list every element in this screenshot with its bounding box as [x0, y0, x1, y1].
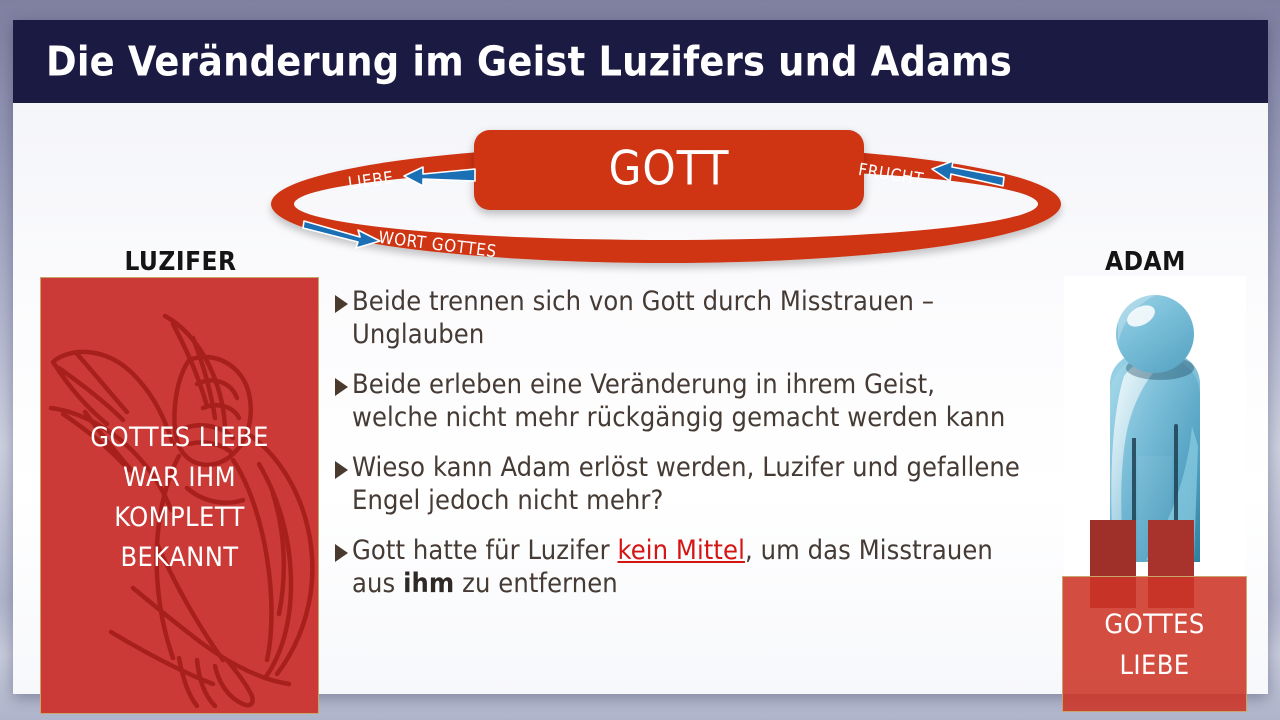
adam-caption-box: GOTTES LIEBE [1062, 576, 1247, 712]
bullet-text: Gott hatte für Luzifer kein Mittel, um d… [352, 535, 1025, 601]
bullet-text-part: Beide erleben eine Veränderung in ihrem … [352, 369, 1005, 433]
presentation-slide: Die Veränderung im Geist Luzifers und Ad… [13, 20, 1268, 694]
blue-person-icon [1064, 276, 1246, 576]
luzifer-caption: GOTTES LIEBE WAR IHM KOMPLETT BEKANNT [41, 418, 318, 578]
bullet-item: Gott hatte für Luzifer kein Mittel, um d… [335, 535, 1025, 601]
gott-label: GOTT [474, 146, 864, 193]
bullet-text-part: Gott hatte für Luzifer [352, 535, 617, 566]
luzifer-caption-line: WAR IHM [41, 458, 318, 498]
luzifer-caption-line: BEKANNT [41, 538, 318, 578]
bullet-list: Beide trennen sich von Gott durch Misstr… [335, 286, 1025, 618]
adam-caption: GOTTES LIEBE [1063, 605, 1246, 686]
bullet-text: Beide trennen sich von Gott durch Misstr… [352, 286, 1025, 352]
arrow-left-frucht [928, 159, 1008, 189]
bullet-item: Wieso kann Adam erlöst werden, Luzifer u… [335, 452, 1025, 518]
bullet-triangle-icon [335, 544, 348, 562]
cycle-diagram: GOTT LIEBE FRUCHT WORT GOTTES [258, 125, 1058, 270]
bullet-item: Beide trennen sich von Gott durch Misstr… [335, 286, 1025, 352]
luzifer-caption-line: KOMPLETT [41, 498, 318, 538]
bullet-triangle-icon [335, 461, 348, 479]
column-heading-adam: ADAM [1048, 247, 1243, 277]
slide-stage: Die Veränderung im Geist Luzifers und Ad… [0, 0, 1280, 720]
page-title: Die Veränderung im Geist Luzifers und Ad… [46, 41, 1012, 82]
bullet-item: Beide erleben eine Veränderung in ihrem … [335, 369, 1025, 435]
adam-panel [1064, 276, 1246, 576]
bullet-emphasis: ihm [403, 568, 454, 599]
bullet-text: Beide erleben eine Veränderung in ihrem … [352, 369, 1025, 435]
gott-box: GOTT [474, 130, 864, 210]
adam-caption-line: LIEBE [1063, 646, 1246, 687]
bullet-highlight: kein Mittel [617, 535, 744, 566]
bullet-text-part: Wieso kann Adam erlöst werden, Luzifer u… [352, 452, 1020, 516]
bullet-triangle-icon [335, 378, 348, 396]
luzifer-caption-line: GOTTES LIEBE [41, 418, 318, 458]
bullet-text-part: zu entfernen [454, 568, 618, 599]
slide-title-bar: Die Veränderung im Geist Luzifers und Ad… [13, 20, 1268, 103]
arrow-left-liebe [401, 163, 479, 191]
column-heading-luzifer: LUZIFER [43, 247, 318, 277]
luzifer-panel: GOTTES LIEBE WAR IHM KOMPLETT BEKANNT [40, 277, 319, 714]
adam-caption-line: GOTTES [1063, 605, 1246, 646]
arrow-right-wort-gottes [300, 217, 386, 251]
bullet-text-part: Beide trennen sich von Gott durch Misstr… [352, 286, 934, 350]
bullet-text: Wieso kann Adam erlöst werden, Luzifer u… [352, 452, 1025, 518]
bullet-triangle-icon [335, 295, 348, 313]
